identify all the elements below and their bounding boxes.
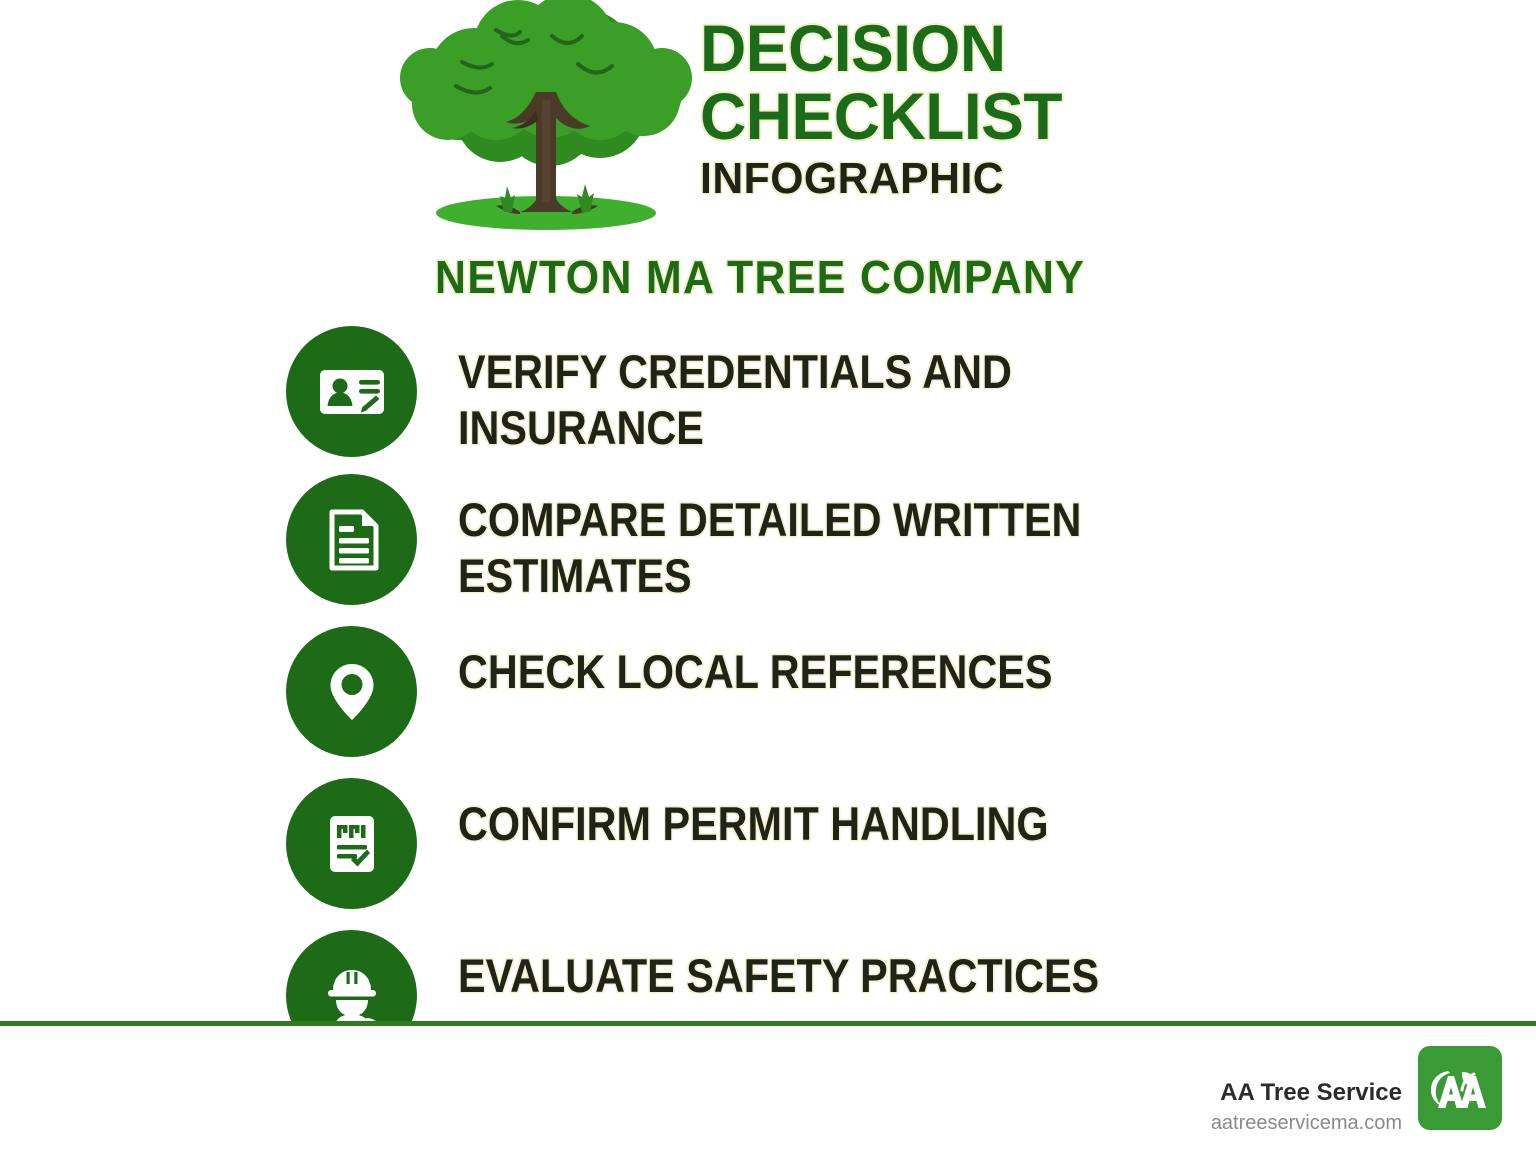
checklist: VERIFY CREDENTIALS AND INSURANCE COMPARE… xyxy=(0,320,1536,1030)
map-pin-icon xyxy=(286,626,417,757)
title-line-2: CHECKLIST xyxy=(700,82,1088,150)
company-name: NEWTON MA TREE COMPANY xyxy=(435,252,1085,302)
checklist-item-4-label: CONFIRM PERMIT HANDLING xyxy=(458,796,1250,852)
checklist-item-5-label: EVALUATE SAFETY PRACTICES xyxy=(458,948,1250,1004)
checklist-item-1-label: VERIFY CREDENTIALS AND INSURANCE xyxy=(458,344,1250,456)
checklist-item-2-label: COMPARE DETAILED WRITTEN ESTIMATES xyxy=(458,492,1092,604)
infographic-page: DECISION CHECKLIST INFOGRAPHIC NEWTON MA… xyxy=(0,0,1536,1154)
checklist-item-5[interactable]: EVALUATE SAFETY PRACTICES xyxy=(0,924,1536,1030)
title-block: DECISION CHECKLIST INFOGRAPHIC xyxy=(700,14,1100,204)
title-line-1: DECISION xyxy=(700,14,1088,82)
tree-illustration-icon xyxy=(400,0,692,236)
hard-hat-worker-icon xyxy=(286,930,417,1030)
checklist-item-2[interactable]: COMPARE DETAILED WRITTEN ESTIMATES xyxy=(0,468,1536,618)
checklist-item-3[interactable]: CHECK LOCAL REFERENCES xyxy=(0,620,1536,770)
footer-brand: AA Tree Service aatreeservicema.com xyxy=(1211,1078,1402,1136)
checklist-item-4[interactable]: CONFIRM PERMIT HANDLING xyxy=(0,772,1536,922)
checklist-item-1[interactable]: VERIFY CREDENTIALS AND INSURANCE xyxy=(0,320,1536,470)
document-icon xyxy=(286,474,417,605)
footer-brand-name: AA Tree Service xyxy=(1211,1078,1402,1108)
title-subtitle: INFOGRAPHIC xyxy=(700,154,1088,204)
footer-website[interactable]: aatreeservicema.com xyxy=(1211,1110,1402,1136)
footer: AA Tree Service aatreeservicema.com xyxy=(0,1026,1536,1154)
checklist-item-3-label: CHECK LOCAL REFERENCES xyxy=(458,644,1250,700)
permit-checklist-icon xyxy=(286,778,417,909)
header: DECISION CHECKLIST INFOGRAPHIC NEWTON MA… xyxy=(0,0,1536,318)
aa-leaf-logo-icon[interactable] xyxy=(1418,1046,1502,1130)
company-name-line: NEWTON MA TREE COMPANY xyxy=(0,252,1536,302)
id-card-icon xyxy=(286,326,417,457)
